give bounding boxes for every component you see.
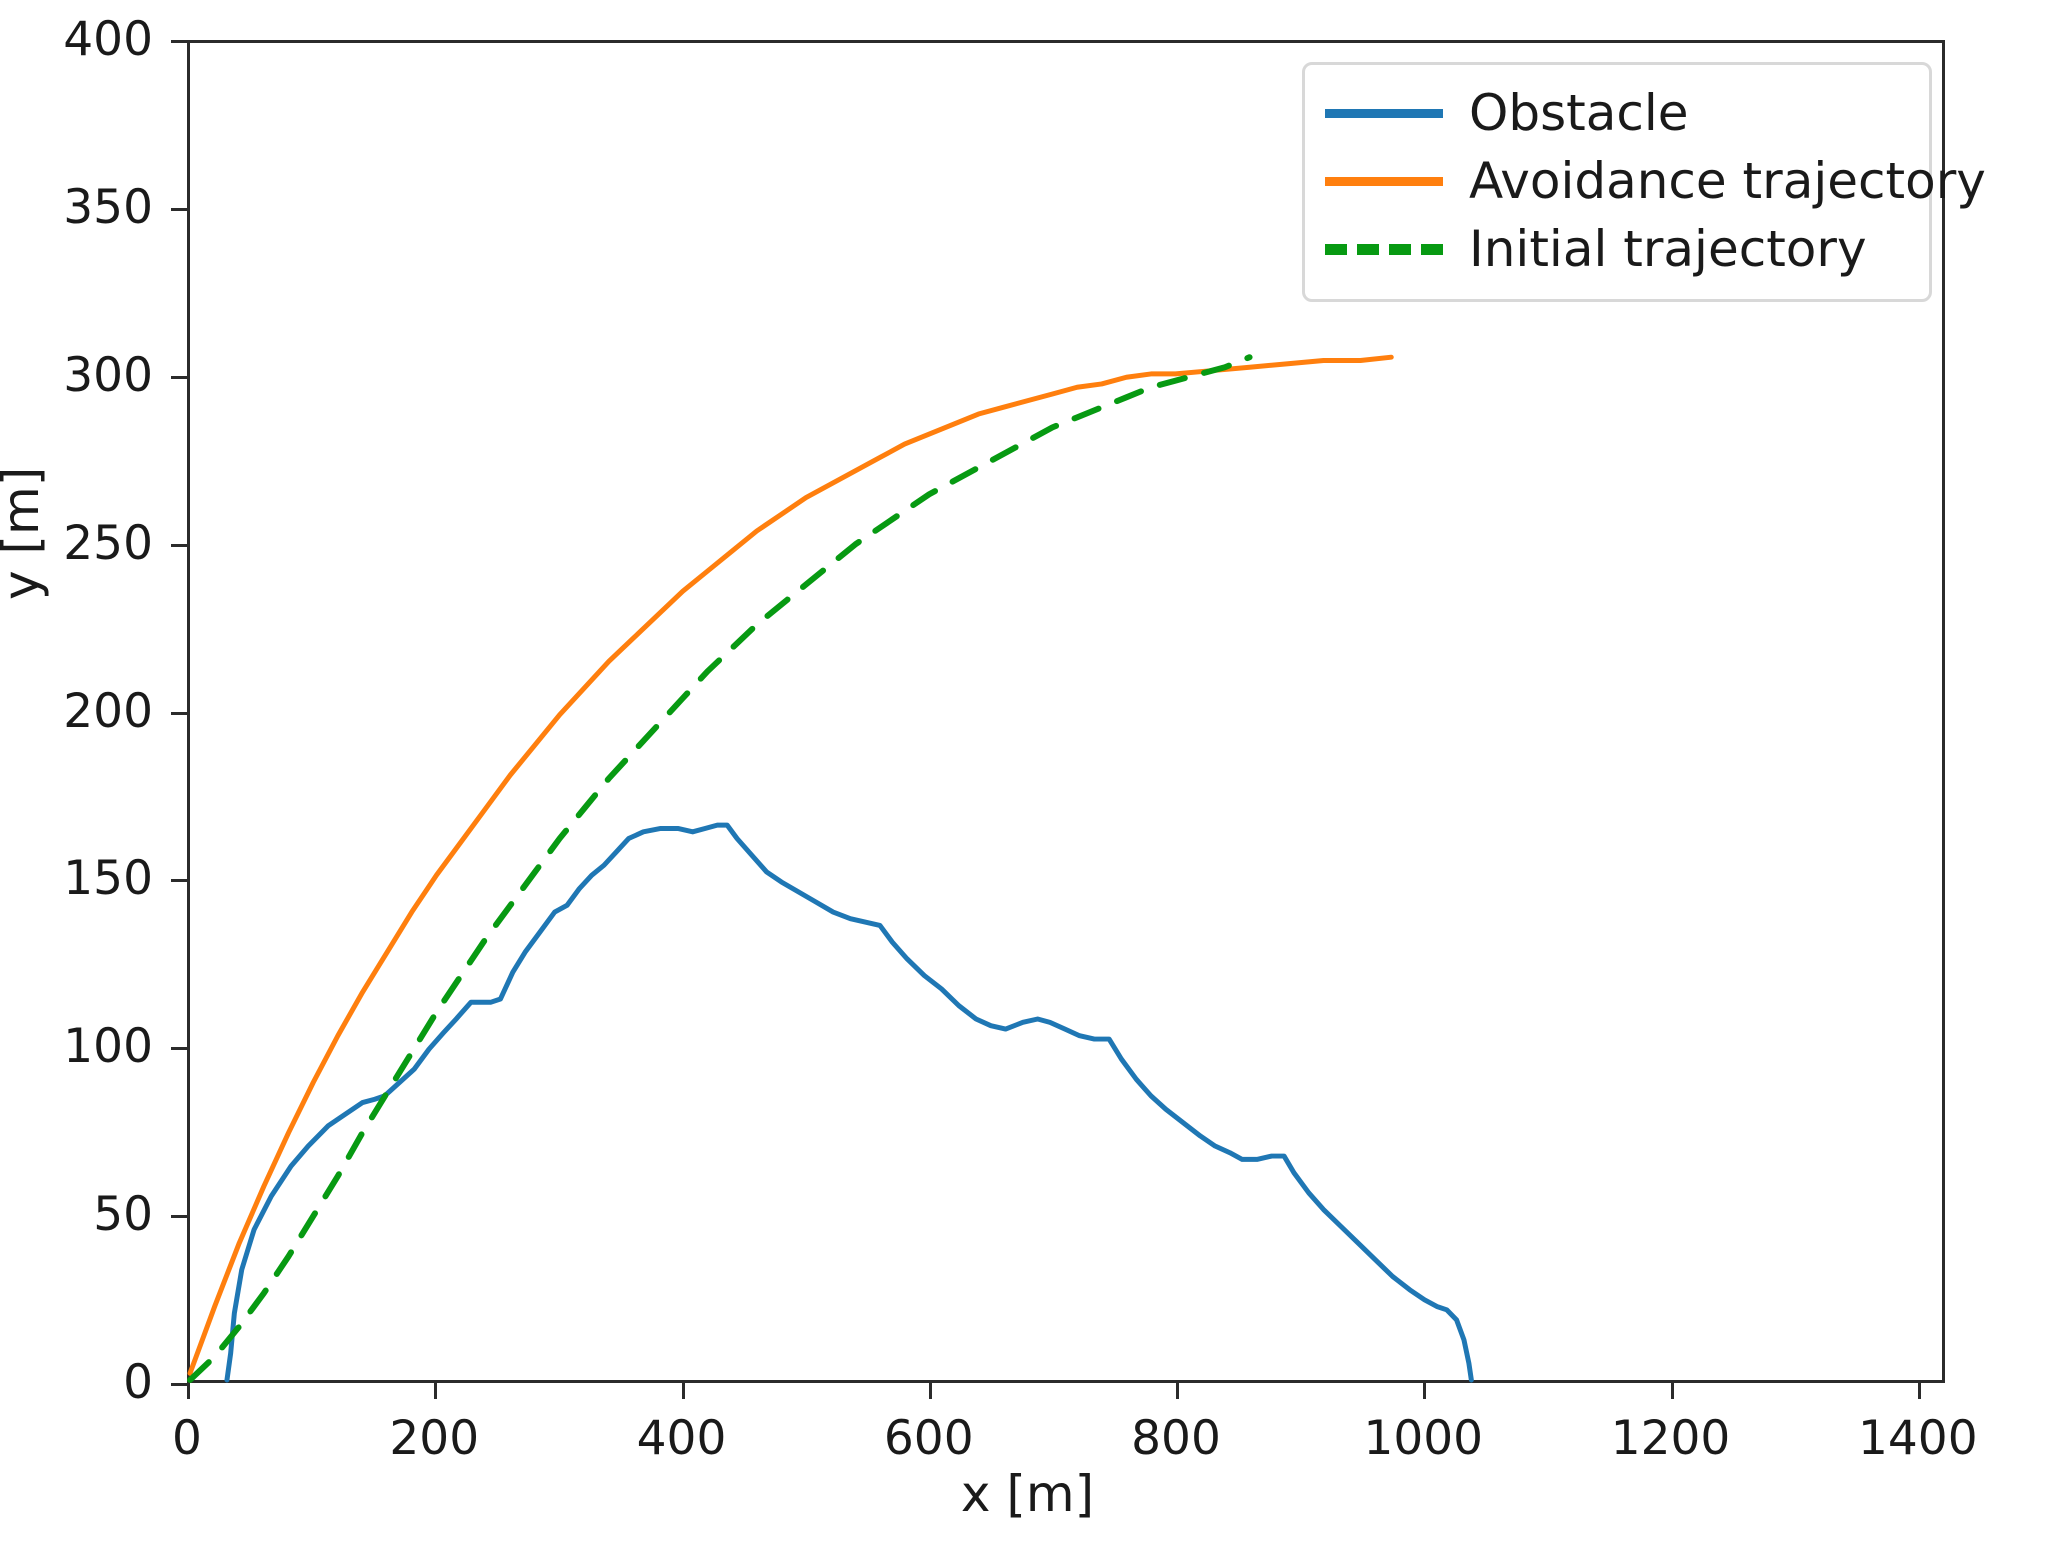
y-tick-mark (171, 544, 187, 547)
x-tick-mark (929, 1383, 932, 1399)
x-tick-mark (187, 1383, 190, 1399)
legend-swatch-avoidance-trajectory (1325, 177, 1443, 186)
y-tick-mark (171, 712, 187, 715)
x-tick-label: 600 (809, 1411, 1049, 1466)
y-tick-mark (171, 1383, 187, 1386)
y-tick-mark (171, 879, 187, 882)
legend-item[interactable]: Initial trajectory (1325, 215, 1909, 283)
x-tick-label: 200 (314, 1411, 554, 1466)
x-tick-label: 800 (1056, 1411, 1296, 1466)
x-tick-label: 0 (67, 1411, 307, 1466)
y-tick-label: 350 (0, 180, 153, 235)
x-axis-label: x [m] (0, 1465, 2055, 1523)
y-tick-label: 100 (0, 1019, 153, 1074)
legend-swatch-obstacle (1325, 109, 1443, 118)
y-tick-mark (171, 208, 187, 211)
y-tick-label: 0 (0, 1355, 153, 1410)
x-tick-label: 1200 (1551, 1411, 1791, 1466)
y-tick-label: 250 (0, 516, 153, 571)
y-tick-label: 300 (0, 348, 153, 403)
figure: y [m] 0501001502002503003504000200400600… (0, 0, 2055, 1556)
series-line-initial-trajectory (190, 357, 1250, 1380)
y-tick-mark (171, 1047, 187, 1050)
legend: Obstacle Avoidance trajectory Initial tr… (1302, 62, 1932, 302)
legend-item[interactable]: Avoidance trajectory (1325, 147, 1909, 215)
x-tick-mark (1918, 1383, 1921, 1399)
y-tick-mark (171, 1215, 187, 1218)
series-line-avoidance-trajectory (190, 357, 1391, 1373)
x-tick-mark (682, 1383, 685, 1399)
y-tick-label: 200 (0, 684, 153, 739)
x-tick-mark (1176, 1383, 1179, 1399)
y-tick-label: 400 (0, 12, 153, 67)
y-tick-mark (171, 40, 187, 43)
y-tick-mark (171, 376, 187, 379)
x-tick-label: 1400 (1798, 1411, 2038, 1466)
legend-label-avoidance-trajectory: Avoidance trajectory (1469, 156, 1986, 206)
x-tick-mark (434, 1383, 437, 1399)
legend-item[interactable]: Obstacle (1325, 79, 1909, 147)
x-tick-mark (1671, 1383, 1674, 1399)
y-tick-label: 150 (0, 851, 153, 906)
x-tick-mark (1423, 1383, 1426, 1399)
x-tick-label: 1000 (1303, 1411, 1543, 1466)
legend-label-obstacle: Obstacle (1469, 88, 1689, 138)
x-tick-label: 400 (562, 1411, 802, 1466)
y-tick-label: 50 (0, 1187, 153, 1242)
legend-label-initial-trajectory: Initial trajectory (1469, 224, 1867, 274)
legend-swatch-initial-trajectory (1325, 244, 1443, 255)
